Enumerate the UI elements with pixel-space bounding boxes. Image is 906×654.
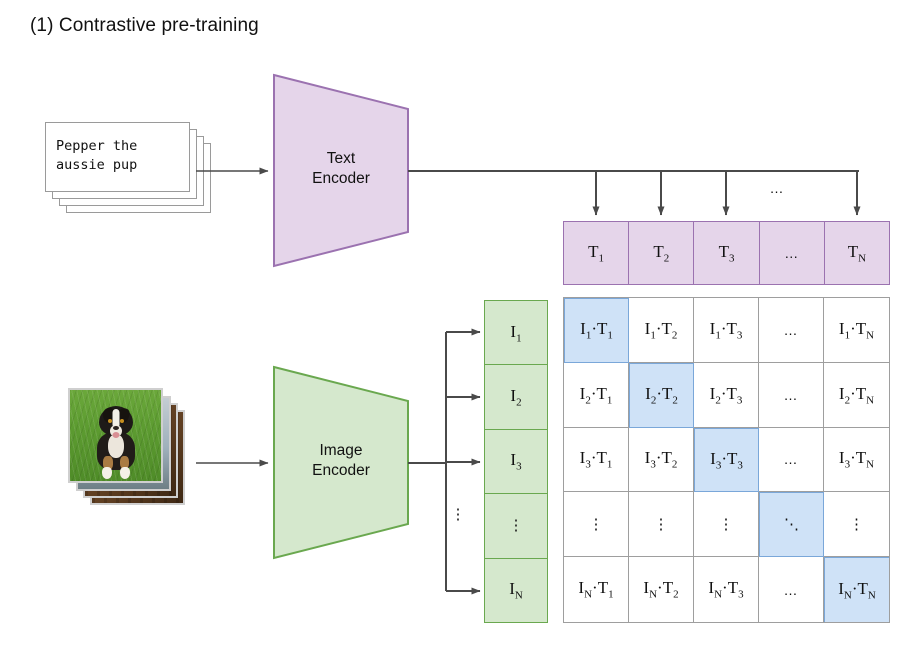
- matrix-cell[interactable]: ⋮: [824, 492, 889, 557]
- image-embedding-cell-ellipsis: ⋮: [485, 494, 547, 558]
- puppy-eye-left: [108, 419, 112, 423]
- matrix-cell-diagonal[interactable]: I2·T2: [629, 363, 694, 428]
- matrix-cell[interactable]: …: [759, 298, 824, 363]
- matrix-cell[interactable]: ⋮: [564, 492, 629, 557]
- image-embedding-cell[interactable]: I1: [485, 301, 547, 365]
- matrix-dot-product-label: I3·TN: [839, 448, 874, 470]
- matrix-cell-diagonal[interactable]: I1·T1: [564, 298, 629, 363]
- matrix-cell[interactable]: I2·T3: [694, 363, 759, 428]
- puppy-eye-right: [120, 419, 124, 423]
- caption-text: Pepper theaussie pup: [56, 137, 137, 175]
- matrix-dot-product-label: I2·T2: [645, 384, 678, 406]
- text-embedding-cell-ellipsis: …: [760, 222, 825, 284]
- caption-line-2: aussie pup: [56, 157, 137, 173]
- matrix-dot-product-label: I1·T2: [645, 319, 678, 341]
- i2-label: I2: [510, 386, 521, 408]
- image-embedding-cell[interactable]: I2: [485, 365, 547, 429]
- i3-label: I3: [510, 450, 521, 472]
- matrix-dot-product-label: I3·T1: [580, 448, 613, 470]
- matrix-cell[interactable]: I3·TN: [824, 428, 889, 493]
- image-encoder-label: Image Encoder: [272, 441, 410, 481]
- text-encoder-label: Text Encoder: [272, 149, 410, 189]
- matrix-cell-diagonal[interactable]: I3·T3: [694, 428, 759, 493]
- matrix-cell[interactable]: …: [759, 363, 824, 428]
- matrix-dot-product-label: I3·T3: [710, 449, 743, 471]
- image-embedding-cell[interactable]: IN: [485, 559, 547, 622]
- text-encoder-block: Text Encoder: [272, 73, 410, 268]
- text-embedding-row: T1 T2 T3 … TN: [563, 221, 890, 285]
- photo-front-puppy: [68, 388, 163, 483]
- text-embedding-cell[interactable]: TN: [825, 222, 889, 284]
- matrix-cell[interactable]: I2·T1: [564, 363, 629, 428]
- text-embedding-cell[interactable]: T2: [629, 222, 694, 284]
- matrix-dot-product-label: I1·TN: [839, 319, 874, 341]
- matrix-dot-product-label: IN·T1: [578, 578, 613, 600]
- matrix-cell[interactable]: IN·T3: [694, 557, 759, 622]
- puppy-paw-left: [102, 467, 112, 479]
- puppy-nose: [113, 426, 119, 430]
- matrix-cell-diagonal[interactable]: IN·TN: [824, 557, 889, 622]
- matrix-cell[interactable]: ⋮: [629, 492, 694, 557]
- matrix-cell[interactable]: ⋮: [694, 492, 759, 557]
- caption-card-stack: Pepper theaussie pup: [45, 122, 235, 217]
- i-ellipsis-label: ⋮: [509, 518, 524, 533]
- matrix-vdots: ⋮: [719, 517, 734, 532]
- image-encoder-label-line-1: Image: [319, 442, 362, 459]
- text-encoder-label-line-1: Text: [327, 150, 355, 167]
- t3-label: T3: [719, 242, 735, 264]
- matrix-dot-product-label: I2·T3: [710, 384, 743, 406]
- matrix-dot-product-label: I3·T2: [645, 448, 678, 470]
- matrix-hdots: …: [784, 582, 799, 598]
- matrix-cell[interactable]: I2·TN: [824, 363, 889, 428]
- matrix-cell[interactable]: I3·T2: [629, 428, 694, 493]
- matrix-dot-product-label: IN·T3: [708, 578, 743, 600]
- matrix-dot-product-label: I1·T1: [580, 319, 613, 341]
- figure-canvas: (1) Contrastive pre-training Pepper thea…: [0, 0, 906, 654]
- matrix-dot-product-label: IN·TN: [838, 579, 876, 601]
- matrix-cell[interactable]: I1·T3: [694, 298, 759, 363]
- puppy-tongue: [112, 432, 119, 438]
- matrix-cell[interactable]: …: [759, 557, 824, 622]
- matrix-cell-diagonal[interactable]: ⋱: [759, 492, 824, 557]
- matrix-hdots: …: [784, 451, 799, 467]
- matrix-ddots: ⋱: [784, 517, 799, 532]
- similarity-matrix: I1·T1I1·T2I1·T3…I1·TNI2·T1I2·T2I2·T3…I2·…: [563, 297, 890, 623]
- matrix-cell[interactable]: I1·T2: [629, 298, 694, 363]
- image-card-stack: [68, 388, 193, 508]
- caption-line-1: Pepper the: [56, 138, 137, 154]
- image-encoder-block: Image Encoder: [272, 365, 410, 560]
- matrix-dot-product-label: I2·T1: [580, 384, 613, 406]
- matrix-hdots: …: [784, 322, 799, 338]
- puppy-paw-right: [120, 467, 130, 479]
- tn-label: TN: [848, 242, 866, 264]
- t-ellipsis-label: …: [784, 245, 799, 261]
- text-embedding-cell[interactable]: T1: [564, 222, 629, 284]
- matrix-hdots: …: [784, 387, 799, 403]
- puppy-head: [99, 406, 133, 436]
- t1-label: T1: [588, 242, 604, 264]
- image-bus-ellipsis: ⋮: [450, 505, 466, 523]
- matrix-cell[interactable]: IN·T1: [564, 557, 629, 622]
- matrix-cell[interactable]: I1·TN: [824, 298, 889, 363]
- matrix-dot-product-label: IN·T2: [643, 578, 678, 600]
- figure-title: (1) Contrastive pre-training: [30, 15, 259, 37]
- matrix-vdots: ⋮: [589, 517, 604, 532]
- in-label: IN: [509, 579, 523, 601]
- matrix-vdots: ⋮: [654, 517, 669, 532]
- caption-card-front: Pepper theaussie pup: [45, 122, 190, 192]
- matrix-cell[interactable]: …: [759, 428, 824, 493]
- matrix-dot-product-label: I1·T3: [710, 319, 743, 341]
- text-bus-ellipsis: …: [757, 180, 797, 196]
- image-embedding-cell[interactable]: I3: [485, 430, 547, 494]
- i1-label: I1: [510, 322, 521, 344]
- matrix-dot-product-label: I2·TN: [839, 384, 874, 406]
- matrix-cell[interactable]: I3·T1: [564, 428, 629, 493]
- matrix-cell[interactable]: IN·T2: [629, 557, 694, 622]
- t2-label: T2: [653, 242, 669, 264]
- text-encoder-label-line-2: Encoder: [312, 170, 370, 187]
- text-embedding-cell[interactable]: T3: [694, 222, 759, 284]
- matrix-vdots: ⋮: [849, 517, 864, 532]
- puppy-illustration: [90, 406, 142, 480]
- image-encoder-label-line-2: Encoder: [312, 462, 370, 479]
- image-embedding-column: I1 I2 I3 ⋮ IN: [484, 300, 548, 623]
